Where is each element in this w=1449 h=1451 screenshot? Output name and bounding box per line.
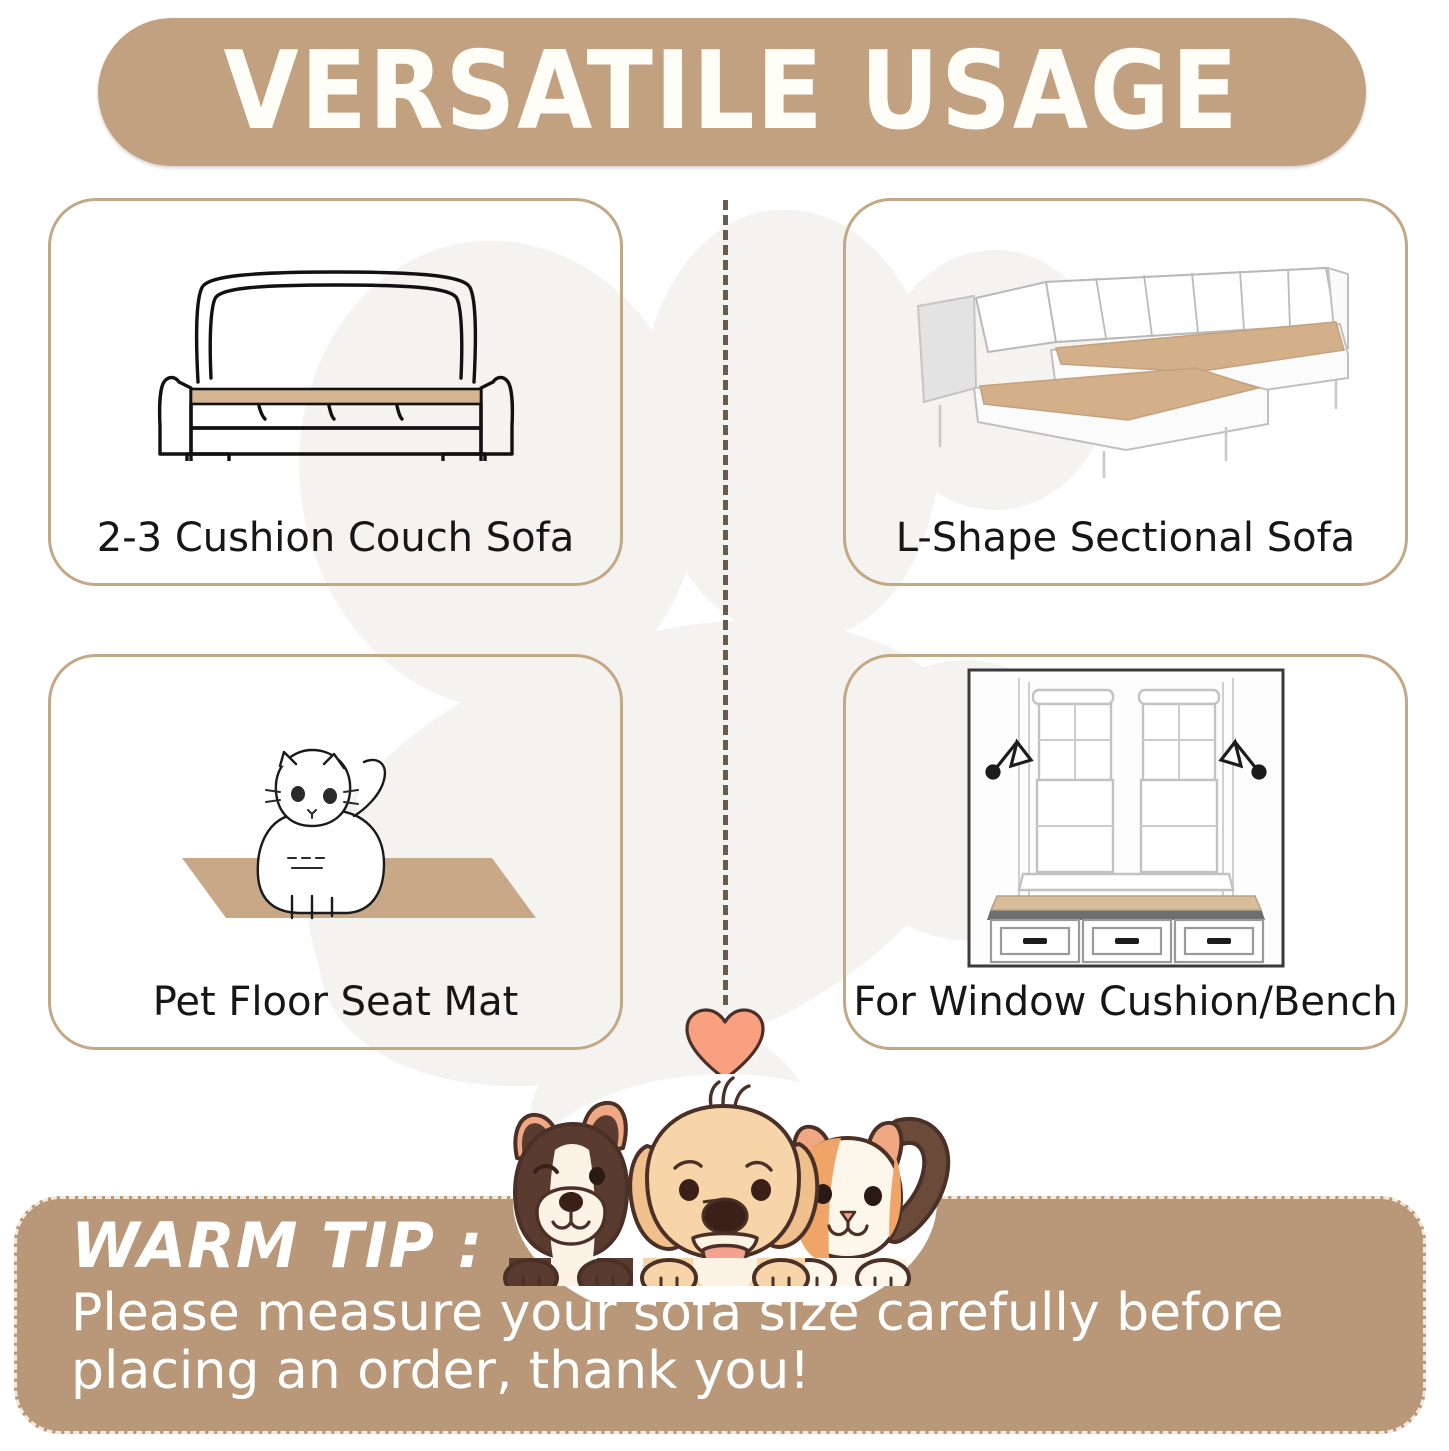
usage-card-label: Pet Floor Seat Mat — [153, 979, 519, 1047]
usage-card-label: 2-3 Cushion Couch Sofa — [97, 515, 574, 583]
vertical-dashed-divider — [723, 200, 728, 1005]
usage-card-pet-floor-mat: Pet Floor Seat Mat — [48, 654, 623, 1050]
usage-card-label: For Window Cushion/Bench — [853, 979, 1397, 1047]
usage-card-window-bench: For Window Cushion/Bench — [843, 654, 1408, 1050]
l-shape-sectional-sofa-icon — [846, 201, 1405, 515]
usage-card-label: L-Shape Sectional Sofa — [896, 515, 1355, 583]
usage-card-l-shape-sofa: L-Shape Sectional Sofa — [843, 198, 1408, 586]
pets-illustration — [497, 1072, 953, 1307]
window-bench-icon — [846, 657, 1405, 979]
usage-card-couch-sofa: 2-3 Cushion Couch Sofa — [48, 198, 623, 586]
couch-sofa-icon — [51, 201, 620, 515]
cat-on-mat-icon — [51, 657, 620, 979]
header-banner: VERSATILE USAGE — [98, 18, 1366, 166]
page-title: VERSATILE USAGE — [224, 38, 1240, 146]
